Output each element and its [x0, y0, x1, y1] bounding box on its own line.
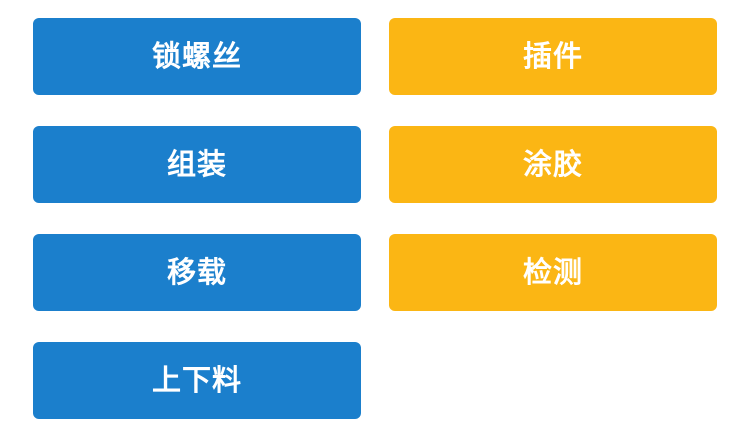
process-button-label: 插件	[523, 42, 583, 71]
process-button-label: 锁螺丝	[152, 42, 242, 71]
process-button-label: 上下料	[152, 366, 242, 395]
process-slot-empty	[389, 342, 717, 419]
process-button-label: 组装	[167, 150, 227, 179]
process-button-load-unload[interactable]: 上下料	[33, 342, 361, 419]
process-button-glue-dispensing[interactable]: 涂胶	[389, 126, 717, 203]
process-button-label: 检测	[523, 258, 583, 287]
process-board: 锁螺丝 插件 组装 涂胶 移载 检测 上下料	[0, 0, 750, 438]
process-button-grid: 锁螺丝 插件 组装 涂胶 移载 检测 上下料	[33, 18, 717, 419]
process-button-label: 移载	[167, 258, 227, 287]
process-button-label: 涂胶	[523, 150, 583, 179]
process-button-inspection[interactable]: 检测	[389, 234, 717, 311]
process-button-lock-screw[interactable]: 锁螺丝	[33, 18, 361, 95]
process-button-insert-component[interactable]: 插件	[389, 18, 717, 95]
process-button-transfer[interactable]: 移载	[33, 234, 361, 311]
process-button-assembly[interactable]: 组装	[33, 126, 361, 203]
